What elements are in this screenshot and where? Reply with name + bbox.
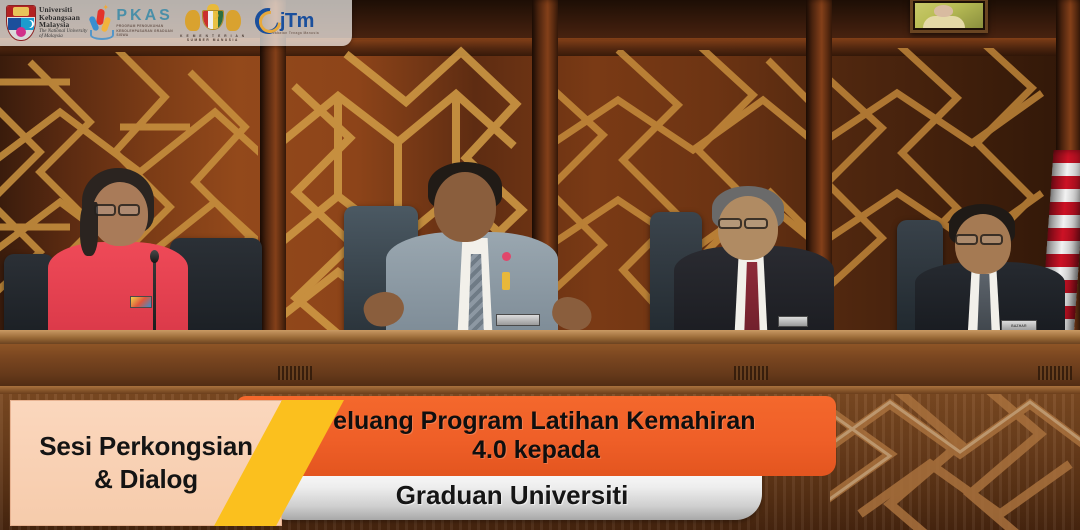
panelist-2-head (434, 172, 496, 242)
panelist-4-glasses-right (980, 234, 1003, 245)
table-microphone-stem-1 (153, 256, 156, 338)
panel-desk-face (0, 344, 1080, 388)
ukm-shield-icon (6, 5, 36, 41)
panelist-1-glasses (94, 204, 116, 216)
sponsor-logo-bar: Universiti Kebangsaan Malaysia The Natio… (0, 0, 352, 46)
ukm-wordmark: Universiti Kebangsaan Malaysia The Natio… (39, 6, 87, 40)
panelist-3-name-badge (778, 316, 808, 327)
panelist-2-lapel-pin (502, 272, 510, 290)
peach-panel-line-2: & Dialog (94, 463, 198, 496)
panelist-3 (660, 188, 860, 340)
jtm-acronym: jTm (280, 11, 314, 31)
pkas-acronym: PKAS (116, 8, 173, 24)
panelist-3-glasses (718, 218, 742, 229)
panelist-1-glasses-right (118, 204, 140, 216)
chair-1-left (4, 254, 54, 338)
jata-negara-logo: K E M E N T E R I A N SUMBER MANUSIA (175, 2, 251, 44)
framed-portrait (910, 0, 988, 33)
panelist-2-flower-pin (502, 252, 511, 261)
table-microphone-head-1 (150, 250, 159, 263)
desk-speaker-grille (278, 366, 312, 380)
jtm-sub: Jabatan Tenaga Manusia (273, 31, 319, 35)
ukm-line-3: Malaysia (39, 21, 87, 29)
silver-banner-text: Graduan Universiti (396, 480, 629, 511)
pkas-arc (90, 30, 114, 40)
portrait-body (923, 16, 965, 28)
panel-desk-lip (0, 386, 1080, 394)
ukm-crescent-icon (24, 20, 32, 28)
jata-ministry-line-2: SUMBER MANUSIA (187, 38, 239, 42)
pkas-wordmark: PKAS PROGRAM PENGUKUHAN KEBOLEHPASARAN G… (116, 8, 173, 37)
jata-tiger-right (226, 10, 241, 31)
coat-of-arms-icon (185, 4, 241, 34)
panelist-1 (20, 168, 260, 338)
panelist-4-glasses (955, 234, 978, 245)
jtm-logo: jTm Jabatan Tenaga Manusia (253, 3, 327, 43)
desk-speaker-grille-3 (1038, 366, 1072, 380)
panelist-1-badge (130, 296, 152, 308)
ukm-logo: Universiti Kebangsaan Malaysia The Natio… (4, 2, 87, 44)
panelist-2-name-badge (496, 314, 540, 326)
wall-pilaster-1 (260, 0, 286, 340)
screenshot-stage: BAZHAR (0, 0, 1080, 530)
panelist-1-torso (48, 242, 188, 342)
pkas-people-icon: ✦ (89, 4, 115, 42)
portrait-image (915, 3, 983, 28)
ukm-crest (13, 7, 29, 16)
jata-tiger-left (185, 10, 200, 31)
orange-banner-line-2: 4.0 kepada (472, 436, 600, 466)
yellow-diagonal-accent (214, 400, 344, 526)
ukm-hibiscus-icon (16, 27, 26, 37)
jata-stripe-green (218, 11, 223, 29)
pkas-logo: ✦ PKAS PROGRAM PENGUKUHAN KEBOLEHPASARAN… (89, 2, 173, 44)
panelist-4: BAZHAR (905, 208, 1080, 340)
portrait-head (934, 5, 953, 17)
panelist-3-glasses-right (744, 218, 768, 229)
pkas-sub-3: SISWA (116, 33, 173, 37)
panel-desk-top (0, 330, 1080, 344)
panelist-2-speaker (350, 162, 610, 338)
jata-crescent-icon (209, 12, 216, 19)
ukm-tagline-2: of Malaysia (39, 34, 87, 40)
orange-banner-line-1: Peluang Program Latihan Kemahiran (317, 407, 756, 437)
title-banner: Graduan Universiti Peluang Program Latih… (0, 396, 1080, 530)
desk-speaker-grille-2 (734, 366, 768, 380)
